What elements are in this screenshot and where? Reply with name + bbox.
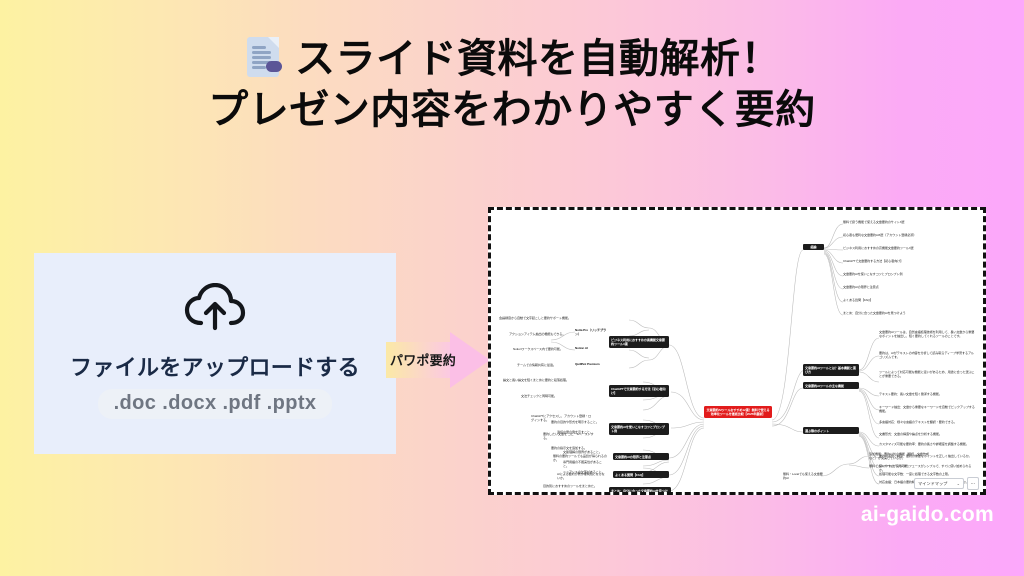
mindmap-node-topic-4[interactable]: 文章要約AIの限界と注意点 — [613, 453, 669, 460]
view-mode-value: マインドマップ — [918, 481, 947, 487]
mindmap-panel[interactable]: 文章要約AIツールおすすめ12選！無料で使える効率化ツールを徹底比較【2025年… — [488, 207, 986, 495]
mindmap-branch-label-3[interactable]: QuillBot Premium — [575, 362, 609, 366]
mindmap-leaf-r19[interactable]: 処理可能な文字数：一度に処理できる文字数の上限。 — [879, 472, 975, 476]
mindmap-leaf-r10[interactable]: 要約は、AIがテキストの内容を分析して読み取るディープ学習するアルゴリズムです。 — [879, 351, 975, 360]
mindmap-leaf-r14[interactable]: 多言語対応：様々な言語のテキストを翻訳・要約できる。 — [879, 420, 975, 424]
mindmap-canvas[interactable]: 文章要約AIツールおすすめ12選！無料で使える効率化ツールを徹底比較【2025年… — [491, 210, 983, 492]
title-text-2: プレゼン内容をわかりやすく要約 — [0, 85, 1024, 136]
mindmap-branch-label-2[interactable]: Notion AI — [575, 346, 609, 350]
mindmap-node-topic-9[interactable]: 文章要約AIツールの主な機能 — [803, 382, 859, 389]
watermark: ai-gaido.com — [861, 503, 994, 527]
title-text-1: スライド資料を自動解析！ — [295, 37, 781, 81]
mindmap-leaf-l6[interactable]: 文法チェックと同時可能。 — [521, 394, 573, 398]
mindmap-leaf-r15[interactable]: 文書形式：文章の構造や論点を分析する機能。 — [879, 432, 975, 436]
mindmap-node-topic-1[interactable]: ビジネス利用におすすめの高機能文章要約ツール3選 — [609, 336, 669, 348]
mindmap-leaf-l11[interactable]: 適切な量の例を示すこと。 — [557, 430, 599, 434]
view-mode-select[interactable]: マインドマップ ⌄ — [914, 478, 964, 489]
mindmap-leaf-r8[interactable]: まとめ：自分に合った文章要約AIを見つけよう — [843, 311, 947, 315]
mindmap-leaf-l1[interactable]: 会議録音から自動で文字起こしと要約サポート機能。 — [499, 316, 571, 320]
mindmap-leaf-l5[interactable]: 論文と長い論文を短くまとめに要約と段落処理。 — [503, 378, 573, 382]
mindmap-leaf-l2[interactable]: アクションアイテム抽出の機能もできる。 — [509, 332, 571, 336]
mindmap-leaf-l10[interactable]: 要約の目的や形式を明示すること。 — [551, 420, 599, 424]
page-facing-up-icon — [243, 34, 283, 80]
mindmap-leaf-r11[interactable]: ツールによって対応可能な機能に違いがあるため、用途に合った選ぶことが重要できる。 — [879, 370, 975, 379]
mindmap-leaf-r4[interactable]: ChatGPTで文章要約する方法【初心者向け】 — [843, 259, 947, 263]
mindmap-node-conclusion[interactable]: 結論 — [803, 244, 824, 250]
mindmap-node-topic-3[interactable]: 文章要約AIを使いこなすコツとプロンプト例 — [609, 423, 669, 435]
mindmap-leaf-r7[interactable]: よくある質問【FAQ】 — [843, 298, 923, 302]
mindmap-node-topic-2[interactable]: ChatGPTで文章要約する方法【初心者向け】 — [609, 385, 669, 397]
page-title: スライド資料を自動解析！ プレゼン内容をわかりやすく要約 — [0, 34, 1024, 136]
mindmap-leaf-l16[interactable]: AIによる要約が著作権問題にならないか。 — [557, 472, 607, 481]
upload-label: ファイルをアップロードする — [70, 350, 360, 382]
mindmap-leaf-r2[interactable]: 初心者も便利な文章要約AI3選（アカウント登録必須） — [843, 233, 953, 237]
more-options-icon[interactable]: ⋯ — [967, 477, 979, 490]
mindmap-leaf-l4[interactable]: チームでの情報共有に最適。 — [517, 363, 571, 367]
mindmap-leaf-r13[interactable]: キーワード抽出：文章から重要なキーワードを自動でピックアップする機能。 — [879, 405, 975, 414]
process-arrow: パワポ要約 — [386, 332, 490, 388]
title-line-1: スライド資料を自動解析！ — [0, 34, 1024, 85]
mindmap-leaf-l15[interactable]: 無料の要約ツールでも品質が得られるのか。 — [553, 454, 607, 463]
arrow-label: パワポ要約 — [390, 350, 456, 369]
mindmap-node-topic-6[interactable]: まとめ：自分に合った文章要約AIを見つけよう — [609, 487, 671, 492]
mindmap-leaf-r5[interactable]: 文章要約AIを使いこなすコツとプロンプト例 — [843, 272, 947, 276]
mindmap-leaf-l17[interactable]: 目的別におすすめのツールをまとめた。 — [543, 484, 605, 488]
mindmap-leaf-r12[interactable]: テキスト要約：長い文章を短く簡潔する機能。 — [879, 392, 975, 396]
mindmap-leaf-r22[interactable]: 無料でもAIツールが使用可能。 — [869, 464, 933, 468]
mindmap-leaf-r3[interactable]: ビジネス利用におすすめの高機能文章要約ツール3選 — [843, 246, 953, 250]
chevron-down-icon: ⌄ — [957, 481, 960, 486]
mindmap-leaf-r16[interactable]: カスタマイズ可能な要約率：要約の長さや詳細度を調整する機能。 — [879, 442, 975, 446]
mindmap-leaf-r1[interactable]: 無料で扱う機能で使える文章要約のサイト3選 — [843, 220, 947, 224]
mindmap-branch-label-1[interactable]: Notta Pro（リッチプラン） — [575, 328, 609, 337]
cloud-upload-icon — [184, 283, 246, 336]
supported-extensions: .doc .docx .pdf .pptx — [98, 389, 333, 419]
file-upload-card[interactable]: ファイルをアップロードする .doc .docx .pdf .pptx — [34, 253, 396, 454]
mindmap-leaf-l3[interactable]: Notionワークスペース内で要約可能。 — [513, 347, 571, 351]
mindmap-node-topic-10[interactable]: 選ぶ際のポイント — [803, 427, 859, 434]
mindmap-leaf-r21[interactable]: 追加機能：要約以外の機能（翻訳、文章作成など）が充実しているか。 — [869, 452, 929, 461]
mindmap-leaf-r9[interactable]: 文章要約AIツールは、自然言語処理技術を利用して、長い文章から重要なポイントを抽… — [879, 330, 975, 339]
mindmap-node-topic-5[interactable]: よくある質問【FAQ】 — [613, 471, 669, 478]
mindmap-center-node[interactable]: 文章要約AIツールおすすめ12選！無料で使える効率化ツールを徹底比較【2025年… — [704, 406, 772, 418]
mindmap-node-topic-8[interactable]: 文章要約AIツールとは？基本機能と選び方 — [803, 364, 859, 376]
mindmap-node-topic-11[interactable]: 無料・Localでも使える文章要約AI — [783, 472, 823, 481]
mindmap-leaf-r6[interactable]: 文章要約AIの限界と注意点 — [843, 285, 933, 289]
mindmap-toolbar[interactable]: マインドマップ ⌄ ⋯ — [914, 478, 979, 489]
